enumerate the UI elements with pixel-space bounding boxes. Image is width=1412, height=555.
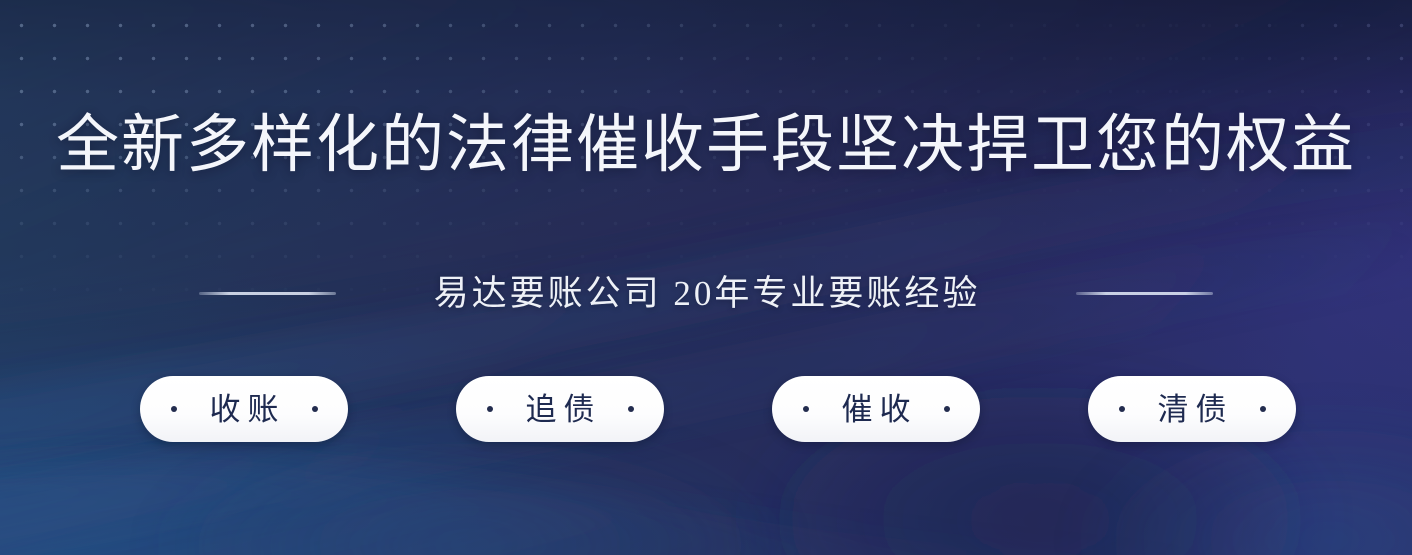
- banner-headline: 全新多样化的法律催收手段坚决捍卫您的权益: [0, 108, 1412, 182]
- banner-subtitle: 易达要账公司 20年专业要账经验: [434, 276, 981, 311]
- bullet-dot-icon: [171, 406, 177, 412]
- service-pill-label: 收账: [203, 394, 286, 425]
- bullet-dot-icon: [803, 406, 809, 412]
- bullet-dot-icon: [312, 406, 318, 412]
- banner-content: 全新多样化的法律催收手段坚决捍卫您的权益 易达要账公司 20年专业要账经验 收账…: [0, 0, 1412, 555]
- bullet-dot-icon: [628, 406, 634, 412]
- service-pill-row: 收账 追债 催收 清债: [140, 376, 1296, 442]
- service-pill-zhuizhai[interactable]: 追债: [456, 376, 664, 442]
- divider-rule-left: [199, 292, 336, 295]
- bullet-dot-icon: [1119, 406, 1125, 412]
- divider-rule-right: [1076, 292, 1213, 295]
- promotional-banner: 全新多样化的法律催收手段坚决捍卫您的权益 易达要账公司 20年专业要账经验 收账…: [0, 0, 1412, 555]
- service-pill-label: 清债: [1151, 394, 1234, 425]
- bullet-dot-icon: [1260, 406, 1266, 412]
- bullet-dot-icon: [944, 406, 950, 412]
- service-pill-cuishou[interactable]: 催收: [772, 376, 980, 442]
- bullet-dot-icon: [487, 406, 493, 412]
- banner-subtitle-row: 易达要账公司 20年专业要账经验: [0, 268, 1412, 318]
- service-pill-qingzhai[interactable]: 清债: [1088, 376, 1296, 442]
- service-pill-label: 追债: [519, 394, 602, 425]
- service-pill-shouzhang[interactable]: 收账: [140, 376, 348, 442]
- service-pill-label: 催收: [835, 394, 918, 425]
